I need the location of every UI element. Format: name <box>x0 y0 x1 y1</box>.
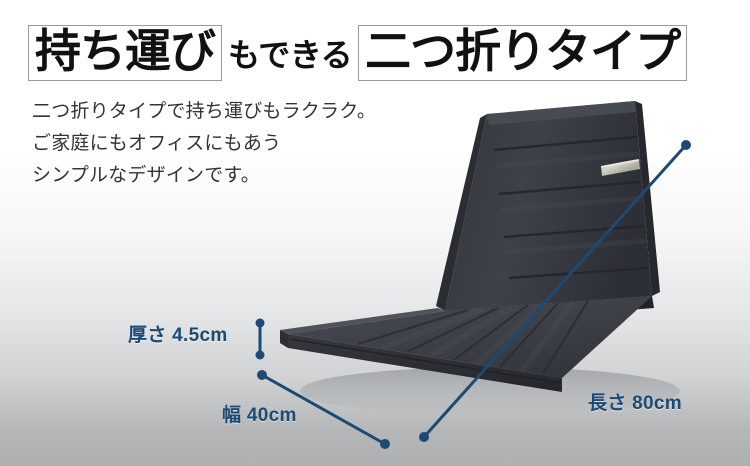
dimension-label-length: 長さ 80cm <box>588 388 682 415</box>
dimension-label-thickness: 厚さ 4.5cm <box>128 320 228 347</box>
dimension-thickness-marker <box>256 319 265 360</box>
dimension-label-width: 幅 40cm <box>222 400 297 427</box>
product-feature-banner: 持ち運び もできる 二つ折りタイプ 二つ折りタイプで持ち運びもラクラク。 ご家庭… <box>0 0 750 466</box>
